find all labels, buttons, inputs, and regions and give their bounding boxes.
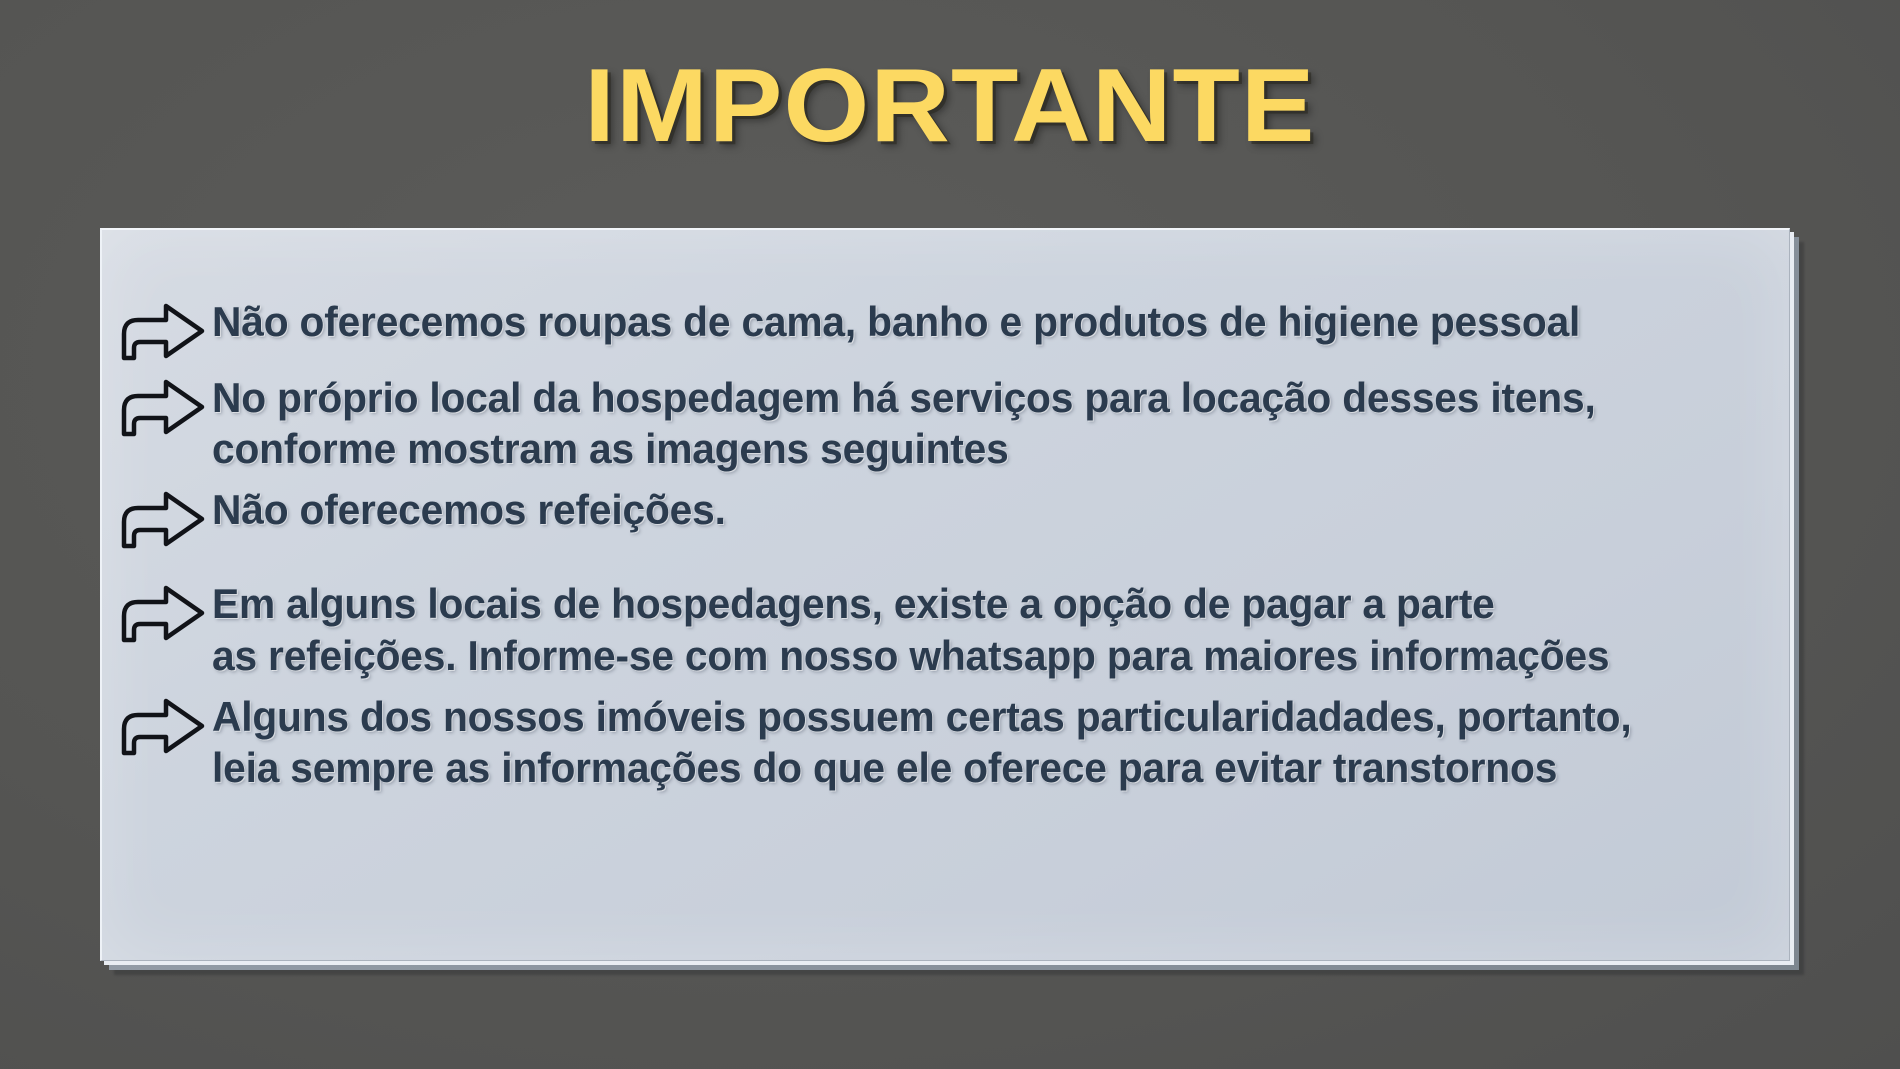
list-item-label: Não oferecemos roupas de cama, banho e p… bbox=[212, 296, 1723, 347]
list-item-label: No próprio local da hospedagem há serviç… bbox=[212, 372, 1723, 474]
bullet-list: Não oferecemos roupas de cama, banho e p… bbox=[120, 296, 1770, 809]
bent-arrow-right-icon bbox=[120, 582, 208, 644]
slide-root: IMPORTANTE Não oferecemos roupas de cama… bbox=[0, 0, 1900, 1069]
bent-arrow-right-icon bbox=[120, 376, 208, 438]
list-item: Não oferecemos refeições. bbox=[120, 484, 1770, 550]
list-item: Não oferecemos roupas de cama, banho e p… bbox=[120, 296, 1770, 362]
page-title-container: IMPORTANTE bbox=[0, 52, 1900, 161]
list-item: No próprio local da hospedagem há serviç… bbox=[120, 372, 1770, 474]
list-item: Alguns dos nossos imóveis possuem certas… bbox=[120, 691, 1770, 793]
bent-arrow-right-icon bbox=[120, 695, 208, 757]
page-title: IMPORTANTE bbox=[584, 52, 1315, 161]
list-item-label: Em alguns locais de hospedagens, existe … bbox=[212, 578, 1723, 680]
content-card: Não oferecemos roupas de cama, banho e p… bbox=[100, 228, 1790, 961]
list-item: Em alguns locais de hospedagens, existe … bbox=[120, 578, 1770, 680]
list-item-label: Não oferecemos refeições. bbox=[212, 484, 1723, 535]
bent-arrow-right-icon bbox=[120, 488, 208, 550]
bent-arrow-right-icon bbox=[120, 300, 208, 362]
list-item-label: Alguns dos nossos imóveis possuem certas… bbox=[212, 691, 1723, 793]
content-card-stack: Não oferecemos roupas de cama, banho e p… bbox=[100, 228, 1790, 961]
